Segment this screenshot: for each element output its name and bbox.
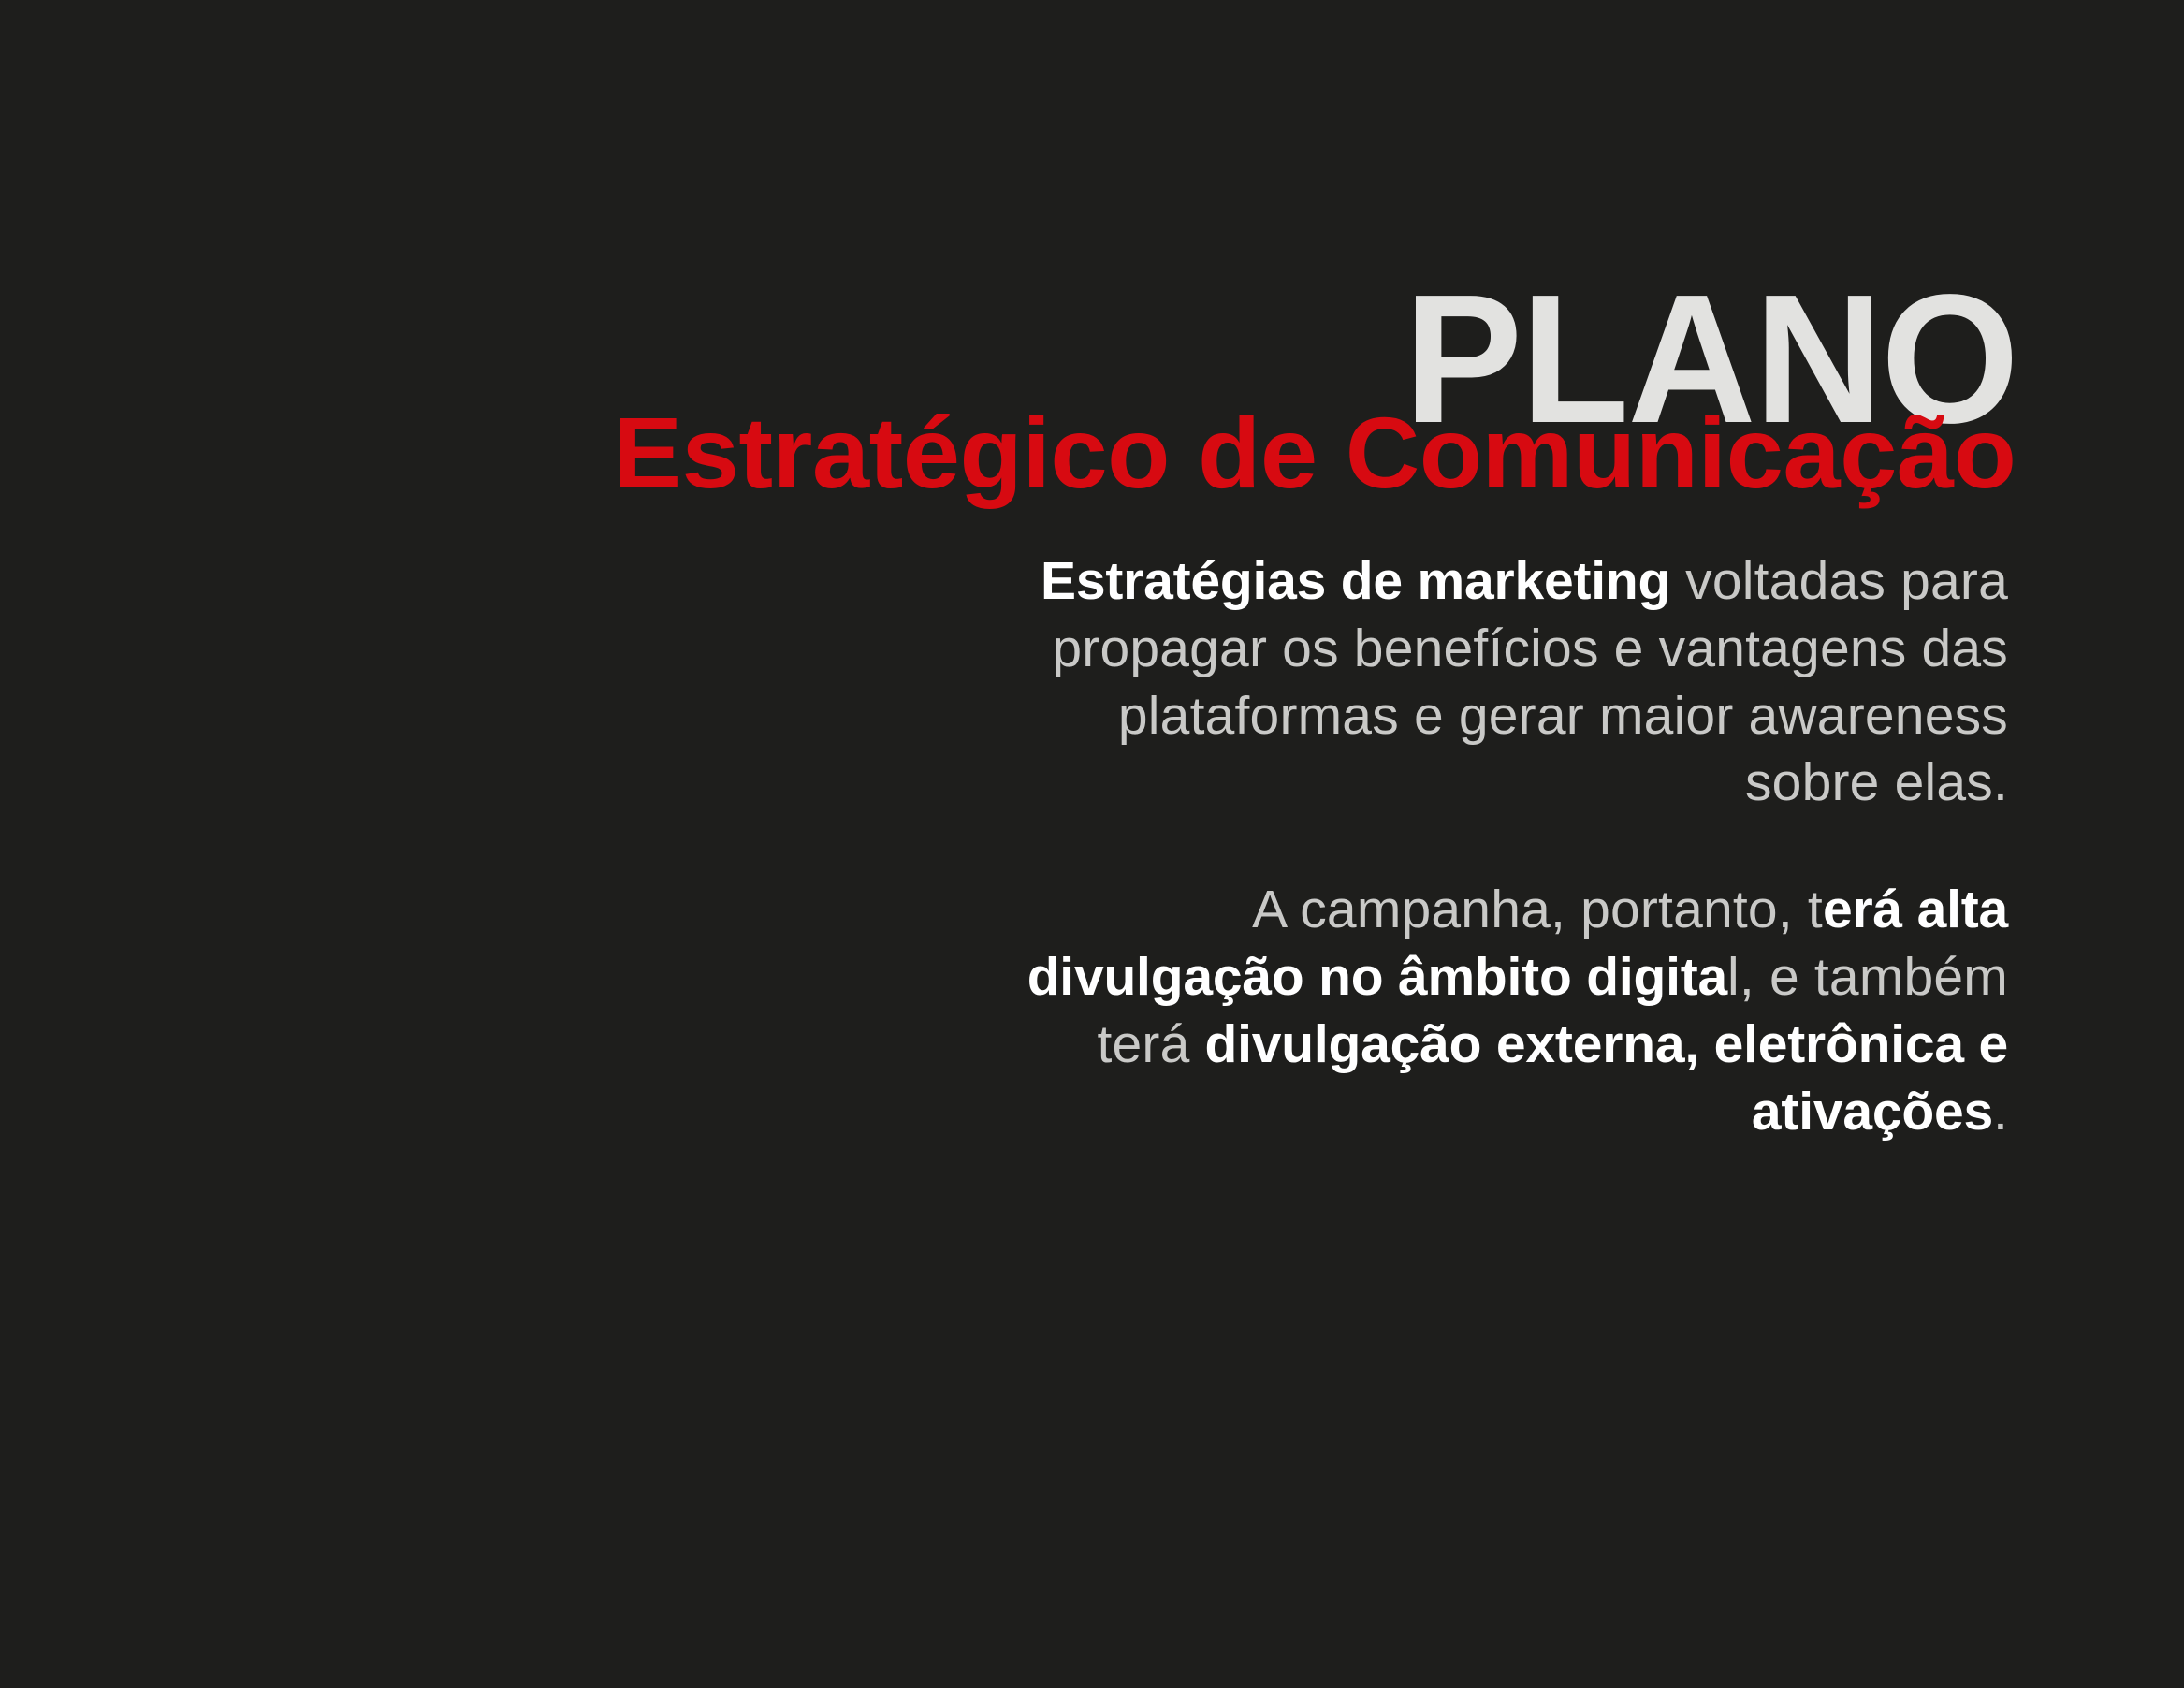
page-subtitle-estrategico: Estratégico de Comunicação [613,402,2016,503]
paragraph-marketing: Estratégias de marketing voltadas para p… [1007,548,2008,817]
slide-root: PLANO Estratégico de Comunicação Estraté… [0,0,2184,1688]
body-copy: Estratégias de marketing voltadas para p… [1007,548,2008,1146]
paragraph-1-strong-lead: Estratégias de marketing [1041,551,1670,611]
paragraph-2-segment-5: . [1993,1082,2008,1142]
paragraph-2-segment-1: A campanha, portanto, t [1252,880,1823,939]
title-lockup: PLANO Estratégico de Comunicação [0,0,2184,543]
paragraph-2-segment-4: divulgação externa, eletrônica e ativaçõ… [1205,1014,2008,1142]
paragraph-campanha: A campanha, portanto, terá alta divulgaç… [1007,877,2008,1145]
